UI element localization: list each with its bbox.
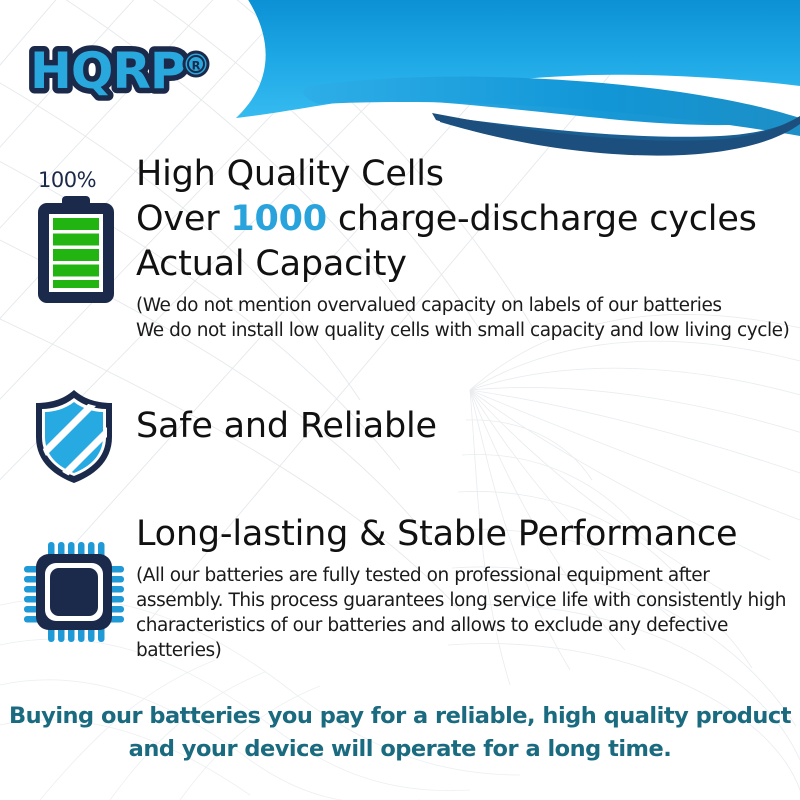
footer-tagline: Buying our batteries you pay for a relia… <box>0 700 800 766</box>
feature-headline-line: Safe and Reliable <box>136 404 437 449</box>
feature-body-line: characteristics of our batteries and all… <box>136 613 786 638</box>
feature-headline-line: Actual Capacity <box>136 242 789 287</box>
shield-icon <box>28 387 120 485</box>
feature-headline-line: Long-lasting & Stable Performance <box>136 512 786 557</box>
cycles-count: 1000 <box>230 199 327 239</box>
feature-block-safety: Safe and Reliable <box>136 404 437 449</box>
footer-line-2: and your device will operate for a long … <box>0 733 800 766</box>
microchip-icon <box>22 540 126 644</box>
battery-percent-label: 100% <box>38 168 96 192</box>
feature-body-line: batteries) <box>136 638 786 663</box>
cycles-suffix: charge-discharge cycles <box>327 199 757 239</box>
cycles-prefix: Over <box>136 199 230 239</box>
feature-headline-line-cycles: Over 1000 charge-discharge cycles <box>136 197 789 242</box>
feature-body-line: (We do not mention overvalued capacity o… <box>136 293 789 318</box>
feature-body-line: (All our batteries are fully tested on p… <box>136 563 786 588</box>
footer-line-1: Buying our batteries you pay for a relia… <box>0 700 800 733</box>
feature-body-line: assembly. This process guarantees long s… <box>136 588 786 613</box>
feature-block-quality: High Quality Cells Over 1000 charge-disc… <box>136 152 789 343</box>
feature-headline-line: High Quality Cells <box>136 152 789 197</box>
svg-text:R: R <box>192 59 201 73</box>
feature-body-line: We do not install low quality cells with… <box>136 318 789 343</box>
hqrp-logo: HQRP HQRP R <box>26 44 226 102</box>
marketing-banner: HQRP HQRP R 100% High Quality Cells Over… <box>0 0 800 800</box>
background-mesh-pattern <box>0 0 800 800</box>
feature-block-performance: Long-lasting & Stable Performance (All o… <box>136 512 786 663</box>
registered-trademark-icon: R <box>183 51 210 78</box>
battery-full-icon <box>30 196 122 306</box>
logo-fill-text: HQRP <box>30 44 186 100</box>
